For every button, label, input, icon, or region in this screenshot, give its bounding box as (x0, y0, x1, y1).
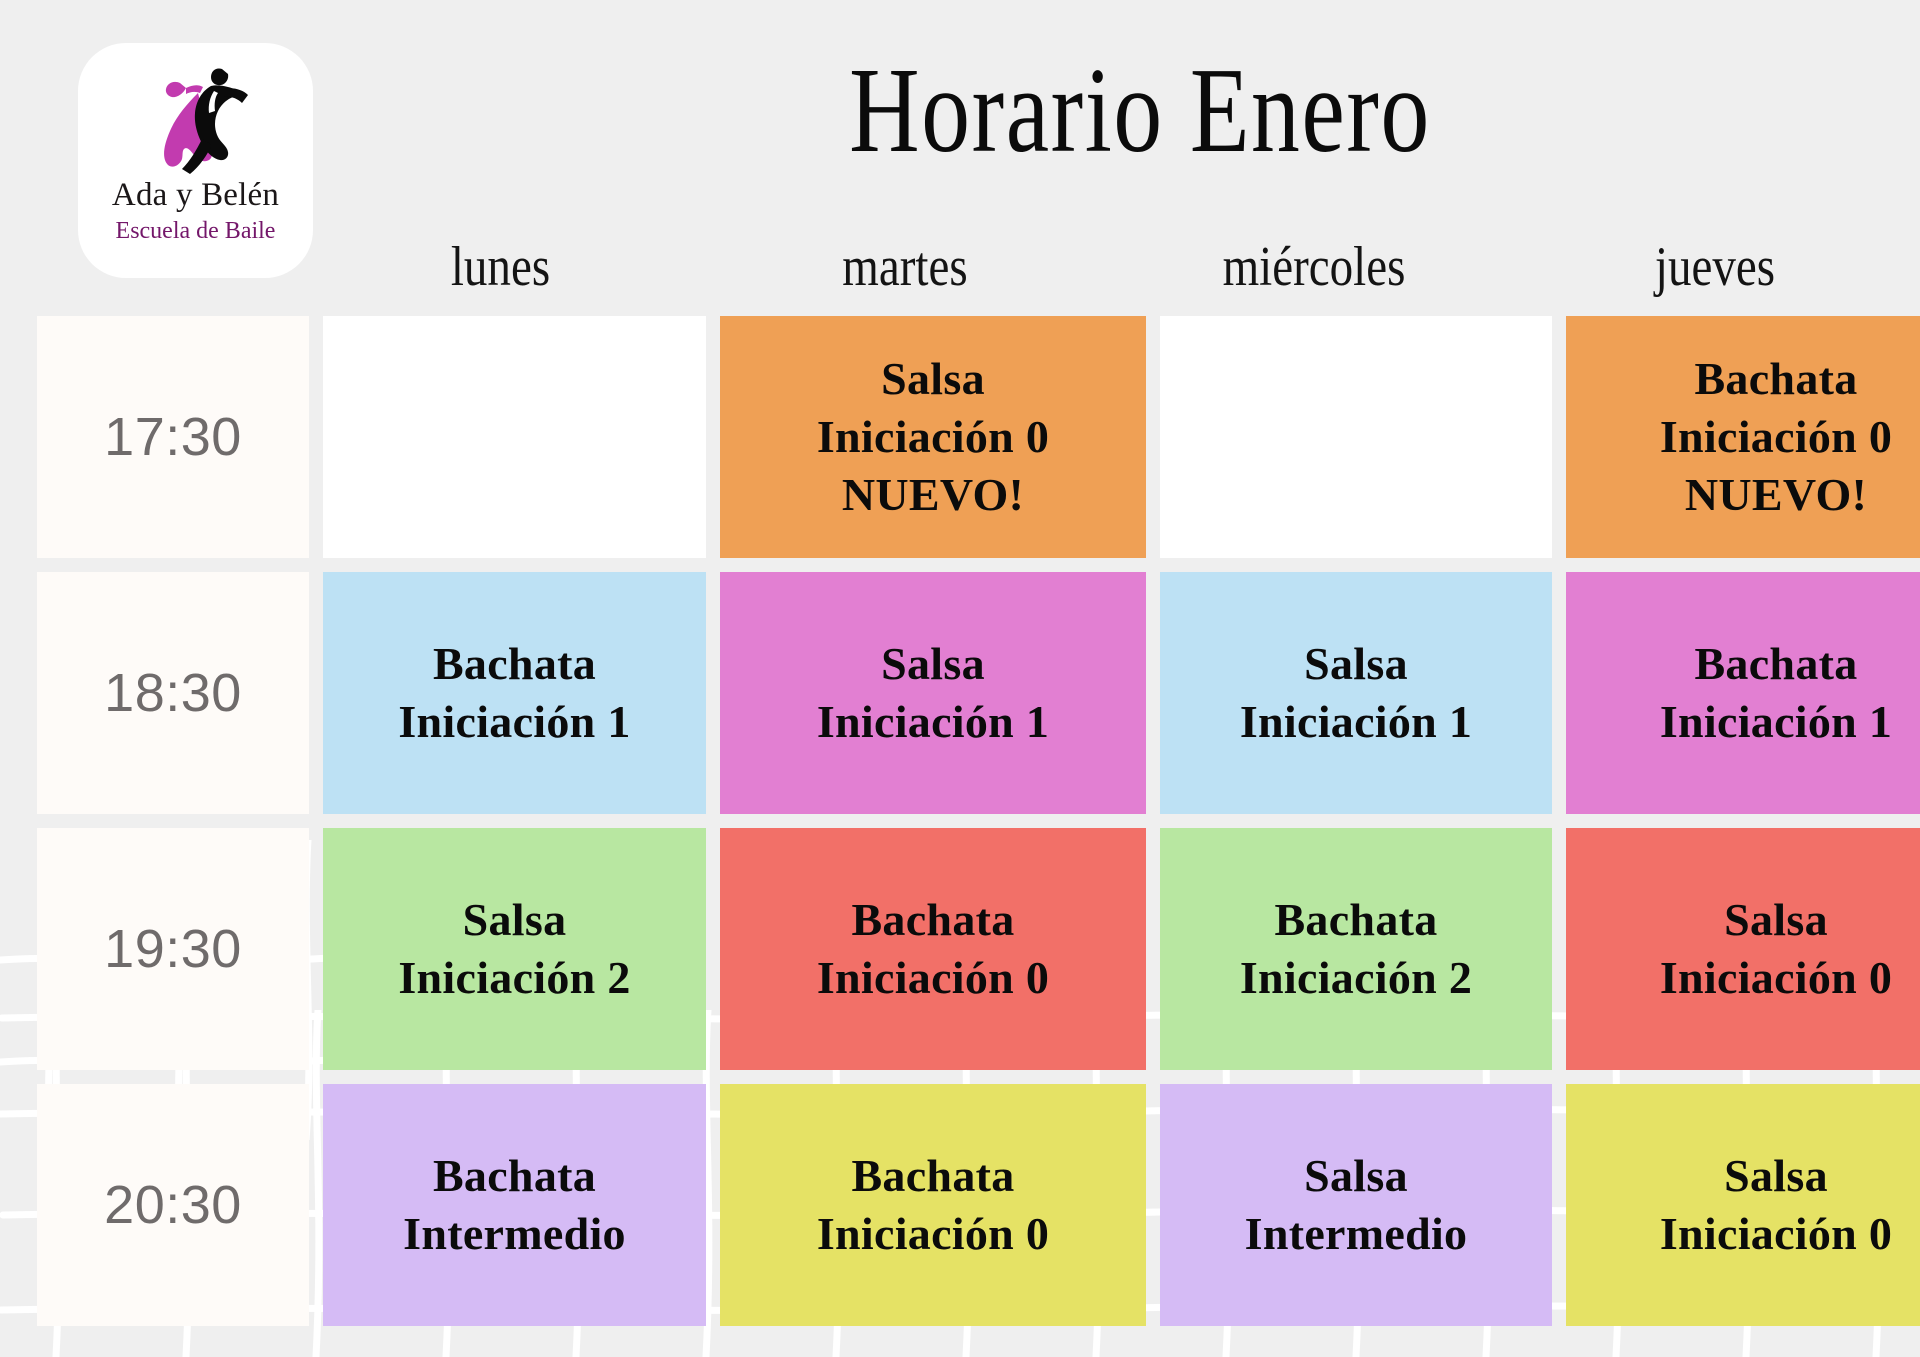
class-cell-line: Salsa (881, 350, 985, 408)
class-cell-jueves-1830[interactable]: BachataIniciación 1 (1566, 572, 1920, 814)
schedule-grid: 17:30SalsaIniciación 0NUEVO!BachataInici… (37, 316, 1920, 1326)
class-cell-line: Iniciación 2 (1240, 949, 1472, 1007)
class-cell-empty-lunes-1730 (323, 316, 706, 558)
time-label-2030: 20:30 (37, 1084, 309, 1326)
class-cell-line: Bachata (1274, 891, 1437, 949)
class-cell-line: Iniciación 0 (817, 408, 1049, 466)
class-cell-jueves-1730[interactable]: BachataIniciación 0NUEVO! (1566, 316, 1920, 558)
class-cell-line: Iniciación 0 (1660, 1205, 1892, 1263)
class-cell-line: Iniciación 1 (1240, 693, 1472, 751)
class-cell-line: Intermedio (1245, 1205, 1468, 1263)
class-cell-miercoles-1930[interactable]: BachataIniciación 2 (1160, 828, 1552, 1070)
class-cell-line: Bachata (433, 635, 596, 693)
time-label-1930: 19:30 (37, 828, 309, 1070)
day-header-row: lunes martes miércoles jueves (37, 224, 1920, 310)
class-cell-empty-miercoles-1730 (1160, 316, 1552, 558)
class-cell-line: Iniciación 2 (398, 949, 630, 1007)
class-cell-jueves-1930[interactable]: SalsaIniciación 0 (1566, 828, 1920, 1070)
class-cell-line: NUEVO! (1685, 466, 1867, 524)
class-cell-jueves-2030[interactable]: SalsaIniciación 0 (1566, 1084, 1920, 1326)
day-header-miercoles: miércoles (1149, 224, 1478, 310)
class-cell-line: Intermedio (403, 1205, 626, 1263)
time-label-1830: 18:30 (37, 572, 309, 814)
class-cell-line: Salsa (1304, 635, 1408, 693)
day-header-jueves: jueves (1543, 224, 1887, 310)
class-cell-line: Iniciación 1 (817, 693, 1049, 751)
class-cell-line: Iniciación 0 (817, 949, 1049, 1007)
class-cell-line: Bachata (851, 1147, 1014, 1205)
class-cell-miercoles-2030[interactable]: SalsaIntermedio (1160, 1084, 1552, 1326)
page-title: Horario Enero (540, 46, 1740, 175)
class-cell-lunes-2030[interactable]: BachataIntermedio (323, 1084, 706, 1326)
day-header-martes: martes (726, 224, 1084, 310)
class-cell-miercoles-1830[interactable]: SalsaIniciación 1 (1160, 572, 1552, 814)
class-cell-line: Salsa (1304, 1147, 1408, 1205)
class-cell-line: Iniciación 1 (398, 693, 630, 751)
brand-name: Ada y Belén (112, 179, 279, 212)
class-cell-line: Bachata (1694, 635, 1857, 693)
class-cell-line: Salsa (1724, 1147, 1828, 1205)
dancing-couple-icon (136, 59, 256, 177)
class-cell-line: Bachata (433, 1147, 596, 1205)
class-cell-line: Iniciación 0 (817, 1205, 1049, 1263)
class-cell-line: Iniciación 0 (1660, 949, 1892, 1007)
class-cell-martes-1930[interactable]: BachataIniciación 0 (720, 828, 1146, 1070)
time-label-1730: 17:30 (37, 316, 309, 558)
class-cell-line: NUEVO! (842, 466, 1024, 524)
class-cell-martes-1830[interactable]: SalsaIniciación 1 (720, 572, 1146, 814)
class-cell-line: Iniciación 1 (1660, 693, 1892, 751)
class-cell-line: Salsa (1724, 891, 1828, 949)
class-cell-line: Salsa (881, 635, 985, 693)
day-header-lunes: lunes (340, 224, 662, 310)
class-cell-line: Bachata (1694, 350, 1857, 408)
class-cell-martes-2030[interactable]: BachataIniciación 0 (720, 1084, 1146, 1326)
class-cell-line: Iniciación 0 (1660, 408, 1892, 466)
class-cell-martes-1730[interactable]: SalsaIniciación 0NUEVO! (720, 316, 1146, 558)
class-cell-lunes-1930[interactable]: SalsaIniciación 2 (323, 828, 706, 1070)
class-cell-lunes-1830[interactable]: BachataIniciación 1 (323, 572, 706, 814)
class-cell-line: Salsa (463, 891, 567, 949)
class-cell-line: Bachata (851, 891, 1014, 949)
